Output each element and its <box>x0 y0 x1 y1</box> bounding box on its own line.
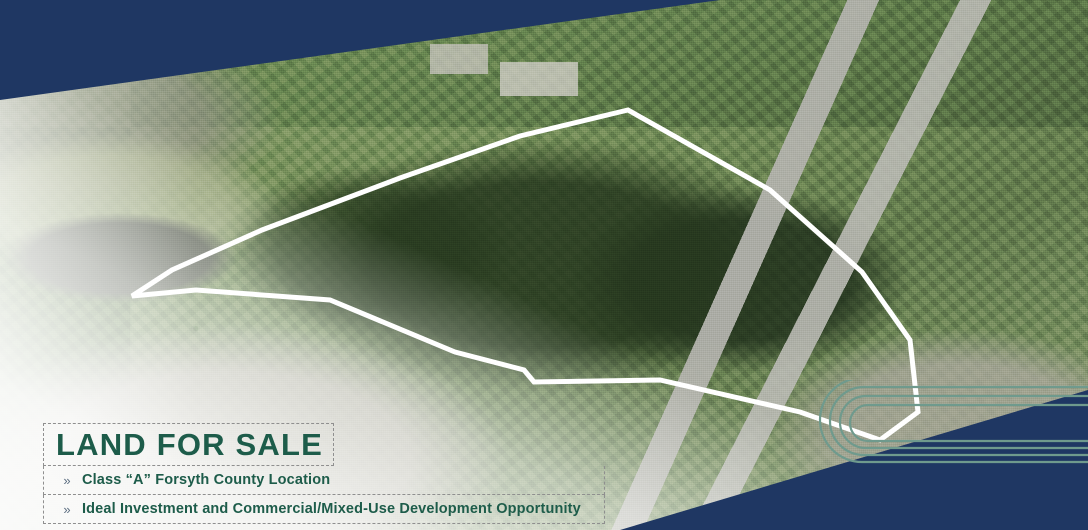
list-item-label: Ideal Investment and Commercial/Mixed-Us… <box>82 501 581 517</box>
chevron-bullet-icon: » <box>52 503 82 516</box>
racetrack-swoosh-lines-icon <box>788 380 1088 530</box>
list-item: » Class “A” Forsyth County Location <box>43 466 605 495</box>
list-item: » Ideal Investment and Commercial/Mixed-… <box>43 495 605 524</box>
callout-block: LAND FOR SALE » Class “A” Forsyth County… <box>43 423 605 524</box>
land-for-sale-flyer-page: LAND FOR SALE » Class “A” Forsyth County… <box>0 0 1088 530</box>
list-item-label: Class “A” Forsyth County Location <box>82 472 330 488</box>
headline-box: LAND FOR SALE <box>43 423 334 466</box>
chevron-bullet-icon: » <box>52 474 82 487</box>
page-title: LAND FOR SALE <box>56 428 323 463</box>
